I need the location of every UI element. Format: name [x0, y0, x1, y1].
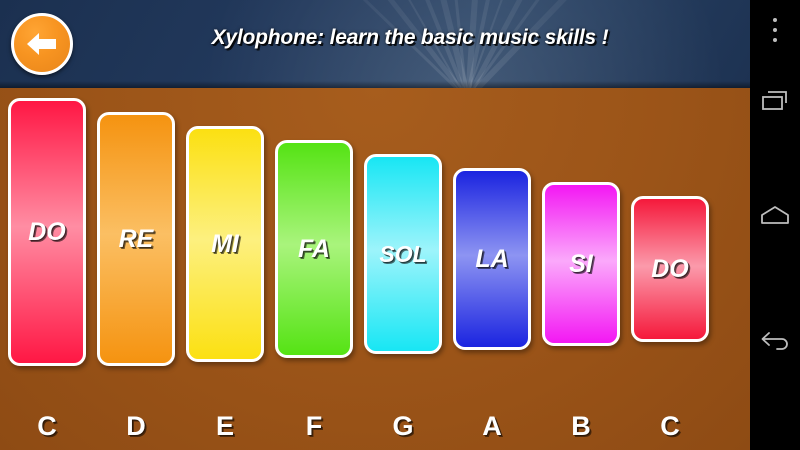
bar-label: RE — [119, 225, 154, 254]
back-arrow-icon — [760, 331, 790, 360]
app-area: Xylophone: learn the basic music skills … — [0, 0, 750, 450]
note-letter-2: E — [186, 411, 264, 442]
header-bottom-shadow — [0, 81, 750, 88]
xylophone-bar-d-1[interactable]: RE — [97, 112, 175, 366]
system-back-button[interactable] — [750, 320, 800, 370]
bar-label: FA — [298, 235, 330, 264]
bar-label: SI — [569, 250, 593, 279]
xylophone-bar-b-6[interactable]: SI — [542, 182, 620, 346]
bar-label: LA — [475, 245, 508, 274]
home-icon — [760, 204, 790, 231]
note-letter-7: C — [631, 411, 709, 442]
xylophone-bar-c-0[interactable]: DO — [8, 98, 86, 366]
xylophone-bar-f-3[interactable]: FA — [275, 140, 353, 358]
bar-label: DO — [28, 218, 66, 247]
note-letter-0: C — [8, 411, 86, 442]
arrow-left-icon — [25, 29, 59, 59]
xylophone-bar-a-5[interactable]: LA — [453, 168, 531, 350]
xylophone-bar-g-4[interactable]: SOL — [364, 154, 442, 354]
android-navigation-bar — [750, 0, 800, 450]
more-vertical-icon — [773, 15, 777, 45]
xylophone-bar-e-2[interactable]: MI — [186, 126, 264, 362]
note-letter-3: F — [275, 411, 353, 442]
overflow-menu-button[interactable] — [750, 5, 800, 55]
page-title: Xylophone: learn the basic music skills … — [100, 26, 720, 50]
note-letter-1: D — [97, 411, 175, 442]
note-letter-4: G — [364, 411, 442, 442]
bar-label: DO — [651, 255, 689, 284]
screen: Xylophone: learn the basic music skills … — [0, 0, 800, 450]
recents-button[interactable] — [750, 78, 800, 128]
recents-icon — [761, 89, 789, 118]
xylophone-board: DOREMIFASOLLASIDO CDEFGABC — [0, 88, 750, 450]
back-button[interactable] — [11, 13, 73, 75]
note-letter-5: A — [453, 411, 531, 442]
bar-label: MI — [211, 230, 239, 259]
xylophone-bar-c-7[interactable]: DO — [631, 196, 709, 342]
app-header: Xylophone: learn the basic music skills … — [0, 0, 750, 88]
bar-label: SOL — [379, 241, 426, 268]
home-button[interactable] — [750, 192, 800, 242]
note-letter-6: B — [542, 411, 620, 442]
